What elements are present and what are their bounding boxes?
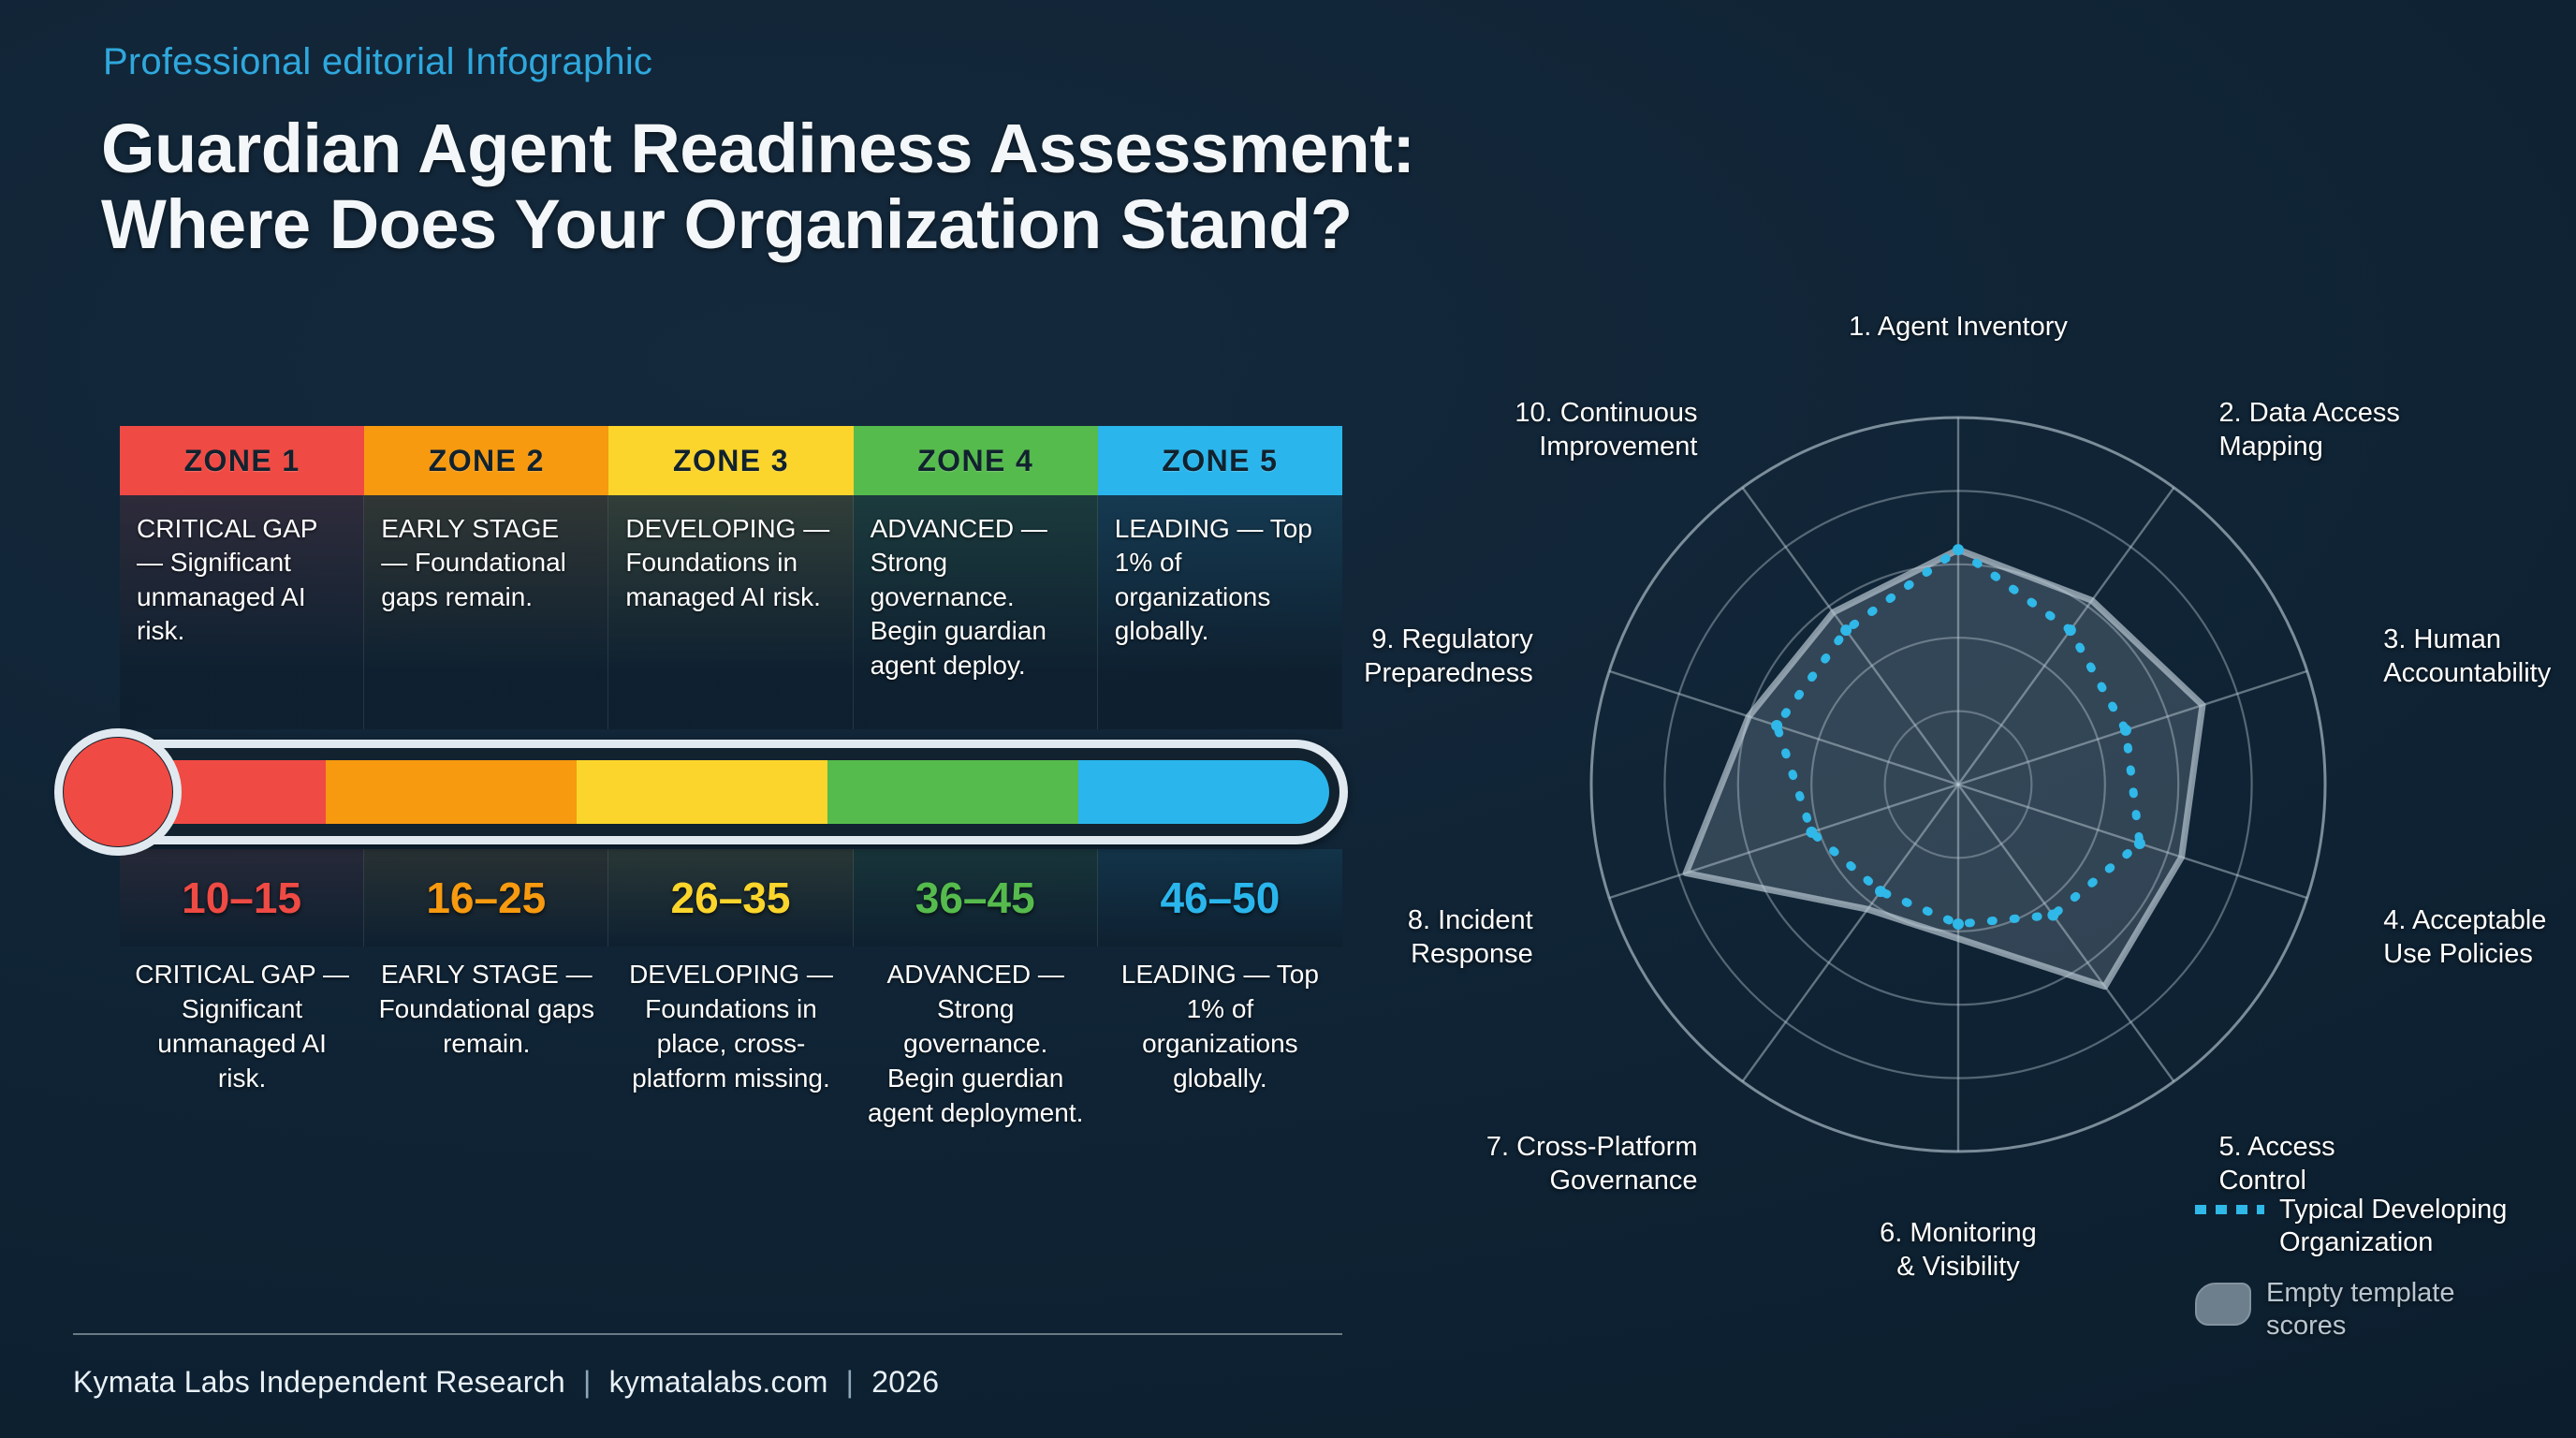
radar-axis-label-6: 6. Monitoring & Visibility: [1818, 1217, 2099, 1284]
zone-description-4: ADVANCED — Strong governance. Begin guar…: [854, 495, 1098, 729]
eyebrow-label: Professional editorial Infographic: [103, 41, 652, 83]
footer-credit: Kymata Labs Independent Research | kymat…: [73, 1365, 939, 1400]
zone-header-2: ZONE 2: [364, 426, 608, 495]
zone-summary-5: LEADING — Top 1% of organizations global…: [1098, 952, 1342, 1131]
zone-range-1: 10–15: [120, 849, 364, 946]
radar-point-8: [1806, 827, 1817, 838]
footer-year: 2026: [871, 1365, 939, 1399]
zone-description-row: CRITICAL GAP — Significant unmanaged AI …: [120, 495, 1342, 729]
zone-range-row: 10–1516–2526–3536–4546–50: [120, 849, 1342, 946]
radar-point-7: [1875, 886, 1886, 897]
zone-description-5: LEADING — Top 1% of organizations global…: [1098, 495, 1342, 729]
thermometer-segment-3: [577, 760, 827, 824]
legend-item-1[interactable]: Typical Developing Organization: [2195, 1194, 2532, 1260]
readiness-thermometer: [56, 740, 1348, 844]
chart-legend: Typical Developing OrganizationEmpty tem…: [2195, 1194, 2532, 1360]
zone-header-5: ZONE 5: [1098, 426, 1342, 495]
radar-point-5: [2047, 910, 2058, 921]
radar-axis-label-4: 4. Acceptable Use Policies: [2383, 904, 2576, 972]
zone-description-1: CRITICAL GAP — Significant unmanaged AI …: [120, 495, 364, 729]
footer-org: Kymata Labs Independent Research: [73, 1365, 565, 1399]
radar-point-10: [1840, 624, 1851, 636]
radar-axis-label-2: 2. Data Access Mapping: [2218, 397, 2499, 464]
radar-axis-label-7: 7. Cross-Platform Governance: [1417, 1131, 1698, 1198]
radar-point-4: [2134, 838, 2145, 849]
footer-separator-2: |: [837, 1365, 864, 1399]
legend-item-2[interactable]: Empty template scores: [2195, 1277, 2532, 1343]
zone-header-1: ZONE 1: [120, 426, 364, 495]
zone-range-3: 26–35: [608, 849, 853, 946]
thermometer-segment-5: [1078, 760, 1329, 824]
zone-header-3: ZONE 3: [608, 426, 853, 495]
radar-axis-label-5: 5. Access Control: [2218, 1131, 2499, 1198]
footer-separator-1: |: [574, 1365, 601, 1399]
legend-dotted-line-icon: [2195, 1205, 2264, 1214]
legend-label-2: Empty template scores: [2266, 1277, 2454, 1343]
zone-range-4: 36–45: [854, 849, 1098, 946]
legend-label-1: Typical Developing Organization: [2279, 1194, 2507, 1260]
zone-summary-3: DEVELOPING — Foundations in place, cross…: [608, 952, 853, 1131]
thermometer-fill: [75, 760, 1329, 824]
page-title-line-1: Guardian Agent Readiness Assessment:: [101, 110, 1415, 187]
radar-axis-label-3: 3. Human Accountability: [2383, 624, 2576, 691]
thermometer-segment-2: [326, 760, 577, 824]
page-title-line-2: Where Does Your Organization Stand?: [101, 186, 1936, 262]
radar-axis-label-10: 10. Continuous Improvement: [1417, 397, 1698, 464]
zone-summary-2: EARLY STAGE — Foundational gaps remain.: [364, 952, 608, 1131]
footer-divider: [73, 1333, 1342, 1335]
zone-header-4: ZONE 4: [854, 426, 1098, 495]
radar-point-6: [1953, 918, 1964, 930]
zone-description-2: EARLY STAGE — Foundational gaps remain.: [364, 495, 608, 729]
radar-point-2: [2065, 624, 2076, 636]
footer-site[interactable]: kymatalabs.com: [609, 1365, 828, 1399]
zone-header-row: ZONE 1ZONE 2ZONE 3ZONE 4ZONE 5: [120, 426, 1342, 495]
radar-point-3: [2120, 725, 2131, 736]
radar-axis-label-1: 1. Agent Inventory: [1818, 311, 2099, 345]
zone-description-3: DEVELOPING — Foundations in managed AI r…: [608, 495, 853, 729]
thermometer-segment-4: [827, 760, 1078, 824]
zone-summary-4: ADVANCED — Strong governance. Begin guer…: [854, 952, 1098, 1131]
zone-range-2: 16–25: [364, 849, 608, 946]
zone-summary-row: CRITICAL GAP — Significant unmanaged AI …: [120, 952, 1342, 1131]
thermometer-bulb: [64, 738, 172, 846]
radar-point-9: [1771, 720, 1782, 731]
zone-summary-1: CRITICAL GAP — Significant unmanaged AI …: [120, 952, 364, 1131]
infographic-root: Professional editorial Infographic Guard…: [0, 0, 2576, 1438]
radar-axis-label-8: 8. Incident Response: [1252, 904, 1533, 972]
radar-axis-label-9: 9. Regulatory Preparedness: [1252, 624, 1533, 691]
page-title: Guardian Agent Readiness Assessment: Whe…: [101, 110, 1936, 263]
legend-filled-blob-icon: [2195, 1283, 2251, 1326]
radar-point-1: [1953, 544, 1964, 555]
